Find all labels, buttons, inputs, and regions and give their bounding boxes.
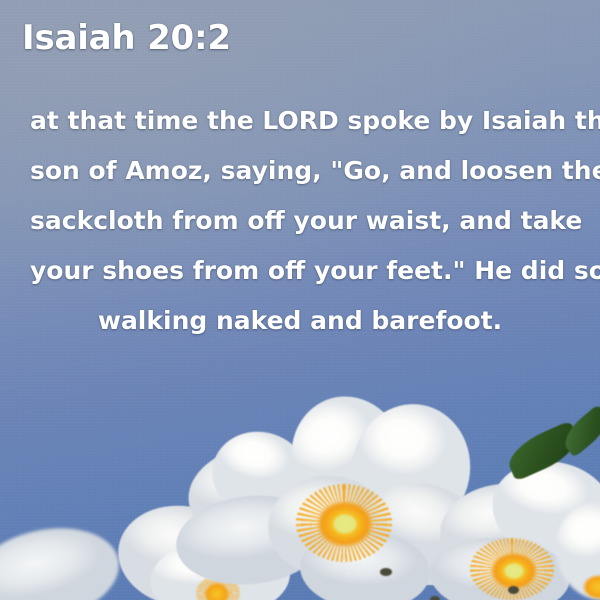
petal-speck [380,568,392,576]
verse-image-canvas: Isaiah 20:2 at that time the LORD spoke … [0,0,600,600]
verse-line: your shoes from off your feet." He did s… [30,246,570,296]
verse-reference-title: Isaiah 20:2 [22,16,231,60]
verse-body-text: at that time the LORD spoke by Isaiah th… [30,96,570,346]
verse-line: walking naked and barefoot. [30,296,570,346]
anemone-flowers-foreground [0,410,600,600]
verse-line: son of Amoz, saying, "Go, and loosen the [30,146,570,196]
verse-line: at that time the LORD spoke by Isaiah th… [30,96,570,146]
verse-line: sackcloth from off your waist, and take [30,196,570,246]
petal [0,515,128,600]
flower-center [316,500,374,548]
flower-center [490,552,538,590]
petal-speck [508,586,519,594]
flower-center [204,582,230,600]
petal-speck [430,596,440,600]
